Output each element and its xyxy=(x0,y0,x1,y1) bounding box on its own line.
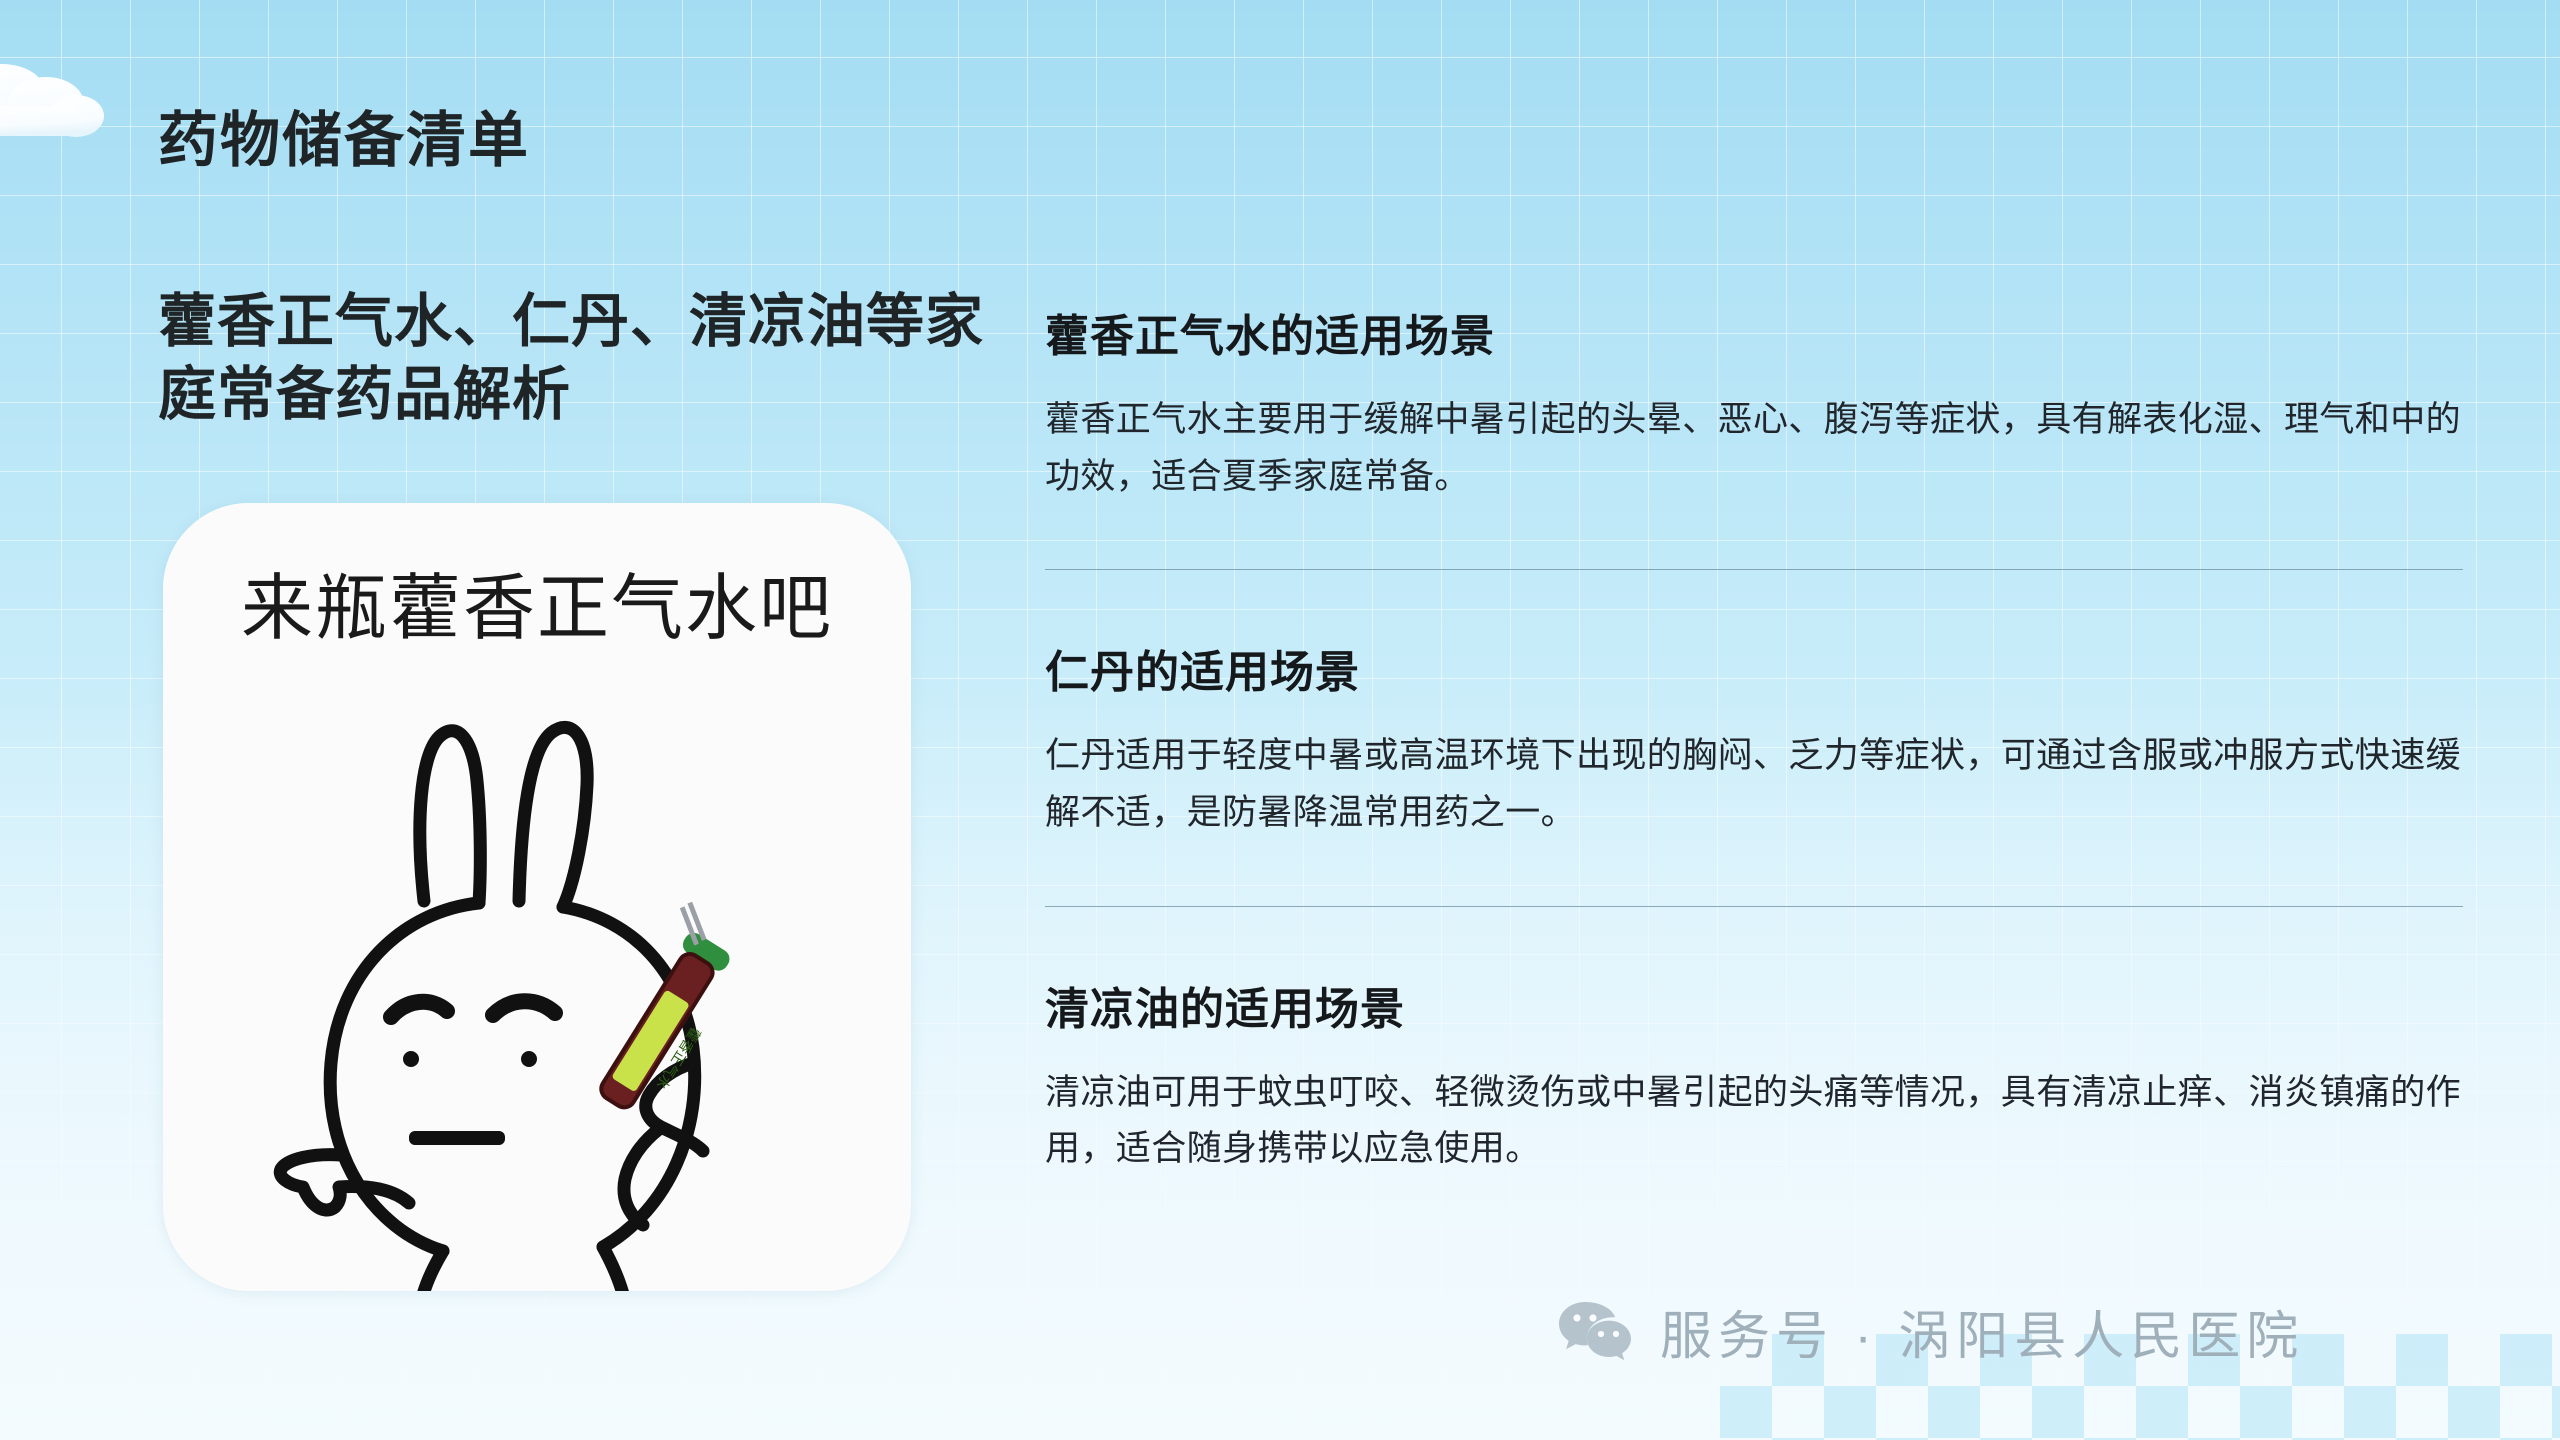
section-rendan: 仁丹的适用场景 仁丹适用于轻度中暑或高温环境下出现的胸闷、乏力等症状，可通过含服… xyxy=(1045,636,2463,841)
section-qingliangyou: 清凉油的适用场景 清凉油可用于蚊虫叮咬、轻微烫伤或中暑引起的头痛等情况，具有清凉… xyxy=(1045,973,2463,1178)
section-heading: 仁丹的适用场景 xyxy=(1045,636,2463,700)
section-body: 藿香正气水主要用于缓解中暑引起的头晕、恶心、腹泻等症状，具有解表化湿、理气和中的… xyxy=(1045,392,2463,505)
sections-column: 藿香正气水的适用场景 藿香正气水主要用于缓解中暑引起的头晕、恶心、腹泻等症状，具… xyxy=(1045,300,2463,1178)
footer-text: 服务号 · 涡阳县人民医院 xyxy=(1660,1294,2304,1369)
illustration-card: 来瓶藿香正气水吧 xyxy=(163,503,911,1291)
rabbit-mouth xyxy=(409,1131,505,1145)
rabbit-meme-illustration: 来瓶藿香正气水吧 xyxy=(163,503,911,1291)
section-heading: 清凉油的适用场景 xyxy=(1045,973,2463,1037)
wechat-icon xyxy=(1558,1300,1632,1364)
cloud-icon xyxy=(0,50,124,146)
section-divider xyxy=(1045,569,2463,570)
section-body: 仁丹适用于轻度中暑或高温环境下出现的胸闷、乏力等症状，可通过含服或冲服方式快速缓… xyxy=(1045,728,2463,841)
section-body: 清凉油可用于蚊虫叮咬、轻微烫伤或中暑引起的头痛等情况，具有清凉止痒、消炎镇痛的作… xyxy=(1045,1065,2463,1178)
section-divider xyxy=(1045,906,2463,907)
section-huoxiang: 藿香正气水的适用场景 藿香正气水主要用于缓解中暑引起的头晕、恶心、腹泻等症状，具… xyxy=(1045,300,2463,505)
footer-account: 服务号 · 涡阳县人民医院 xyxy=(1558,1294,2304,1369)
page-title: 药物储备清单 xyxy=(158,92,530,179)
slide-canvas: 药物储备清单 藿香正气水、仁丹、清凉油等家庭常备药品解析 来瓶藿香正气水吧 xyxy=(0,0,2560,1440)
illustration-caption: 来瓶藿香正气水吧 xyxy=(241,569,833,649)
section-heading: 藿香正气水的适用场景 xyxy=(1045,300,2463,364)
page-subtitle: 藿香正气水、仁丹、清凉油等家庭常备药品解析 xyxy=(158,285,988,431)
